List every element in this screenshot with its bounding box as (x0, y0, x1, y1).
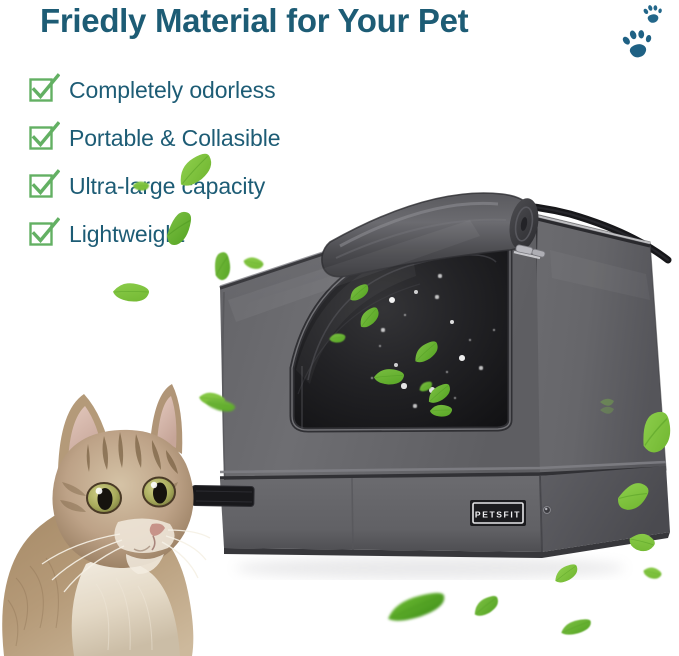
checkbox-checked-icon (30, 78, 54, 102)
leaf-icon (383, 590, 448, 624)
cat-eye-right (143, 478, 175, 507)
product-marketing-image: Friedly Material for Your Pet (0, 0, 679, 656)
checkbox-checked-icon (30, 222, 54, 246)
feature-label: Portable & Collasible (69, 125, 280, 152)
checkbox-checked-icon (30, 174, 54, 198)
paw-print-icon-large (616, 24, 660, 68)
list-item: Completely odorless (30, 66, 280, 114)
pet-carrier-bag: PETSFIT (180, 180, 679, 580)
checkbox-checked-icon (30, 126, 54, 150)
feature-label: Completely odorless (69, 77, 275, 104)
page-title: Friedly Material for Your Pet (40, 2, 468, 40)
brand-label: PETSFIT (475, 510, 521, 520)
metal-rivet (542, 505, 553, 516)
ground-shadow (235, 557, 625, 579)
base-compartment (220, 462, 670, 558)
list-item: Portable & Collasible (30, 114, 280, 162)
leaf-icon (559, 618, 593, 636)
cat-muzzle (114, 518, 174, 553)
tabby-cat-photo (0, 378, 240, 656)
leaf-icon (470, 594, 502, 619)
cat-eye-left (87, 483, 121, 513)
feature-label: Lightweight (69, 221, 184, 248)
leaf-icon (111, 277, 151, 307)
brand-patch: PETSFIT (470, 500, 526, 526)
